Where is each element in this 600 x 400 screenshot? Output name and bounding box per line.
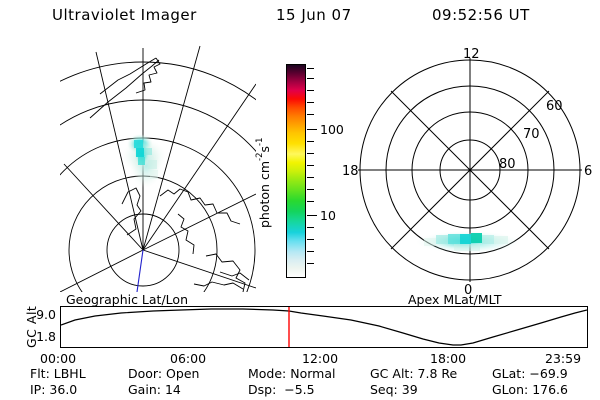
mlt-label-6: 6 [584, 164, 592, 179]
altitude-tick-high: 9.0 [22, 307, 56, 322]
status-door: Door: Open [128, 366, 199, 381]
status-block: Flt: LBHL Door: Open Mode: Normal GC Alt… [30, 366, 590, 398]
time-tick-0600: 06:00 [170, 351, 206, 366]
mlat-label-60: 60 [546, 99, 563, 114]
mlt-label-18: 18 [342, 164, 359, 179]
status-gc-alt: GC Alt: 7.8 Re [370, 366, 457, 381]
mlat-label-80: 80 [499, 157, 516, 172]
geographic-panel-caption: Geographic Lat/Lon [66, 292, 188, 307]
time-tick-1200: 12:00 [302, 351, 338, 366]
aurora-emission-patch [122, 134, 166, 188]
status-seq: Seq: 39 [370, 382, 418, 397]
orbit-altitude-svg [61, 307, 587, 347]
status-flt: Flt: LBHL [30, 366, 86, 381]
time-tick-0000: 00:00 [40, 351, 76, 366]
status-glon: GLon: 176.6 [492, 382, 568, 397]
mlt-label-12: 12 [463, 47, 480, 62]
coastline-paths [90, 58, 251, 292]
time-tick-1800: 18:00 [430, 351, 466, 366]
apex-dial-panel[interactable]: 12 6 0 18 60 70 80 [336, 44, 600, 296]
aurora-emission-arc [416, 231, 520, 253]
apex-panel-caption: Apex MLat/MLT [408, 292, 502, 307]
colorbar-axis-label: photon cm-2s-1 [251, 108, 269, 258]
instrument-title: Ultraviolet Imager [52, 6, 197, 24]
status-ip: IP: 36.0 [30, 382, 77, 397]
colorbar-label-mid: s [257, 146, 272, 153]
colorbar-label-text: photon cm [257, 161, 272, 228]
colorbar-tick-label-10: 10 [320, 208, 336, 223]
colorbar-label-exp2: -1 [255, 138, 265, 146]
time-tick-2359: 23:59 [545, 351, 581, 366]
colorbar-tick-100 [307, 129, 317, 130]
altitude-tick-low: 1.8 [22, 329, 56, 344]
colorbar-gradient[interactable] [286, 64, 306, 278]
observation-time: 09:52:56 UT [432, 6, 530, 24]
altitude-trace [61, 309, 587, 345]
observation-date: 15 Jun 07 [276, 6, 352, 24]
apex-dial-svg: 12 6 0 18 60 70 80 [336, 44, 600, 296]
status-glat: GLat: −69.9 [492, 366, 568, 381]
uv-imager-display: Ultraviolet Imager 15 Jun 07 09:52:56 UT [0, 0, 600, 400]
orbit-altitude-plot[interactable] [60, 306, 588, 348]
status-row: Flt: LBHL Door: Open Mode: Normal GC Alt… [30, 366, 590, 382]
header-bar: Ultraviolet Imager 15 Jun 07 09:52:56 UT [0, 6, 600, 30]
geographic-map-svg [60, 44, 256, 292]
colorbar-label-exp1: -2 [255, 153, 265, 161]
status-mode: Mode: Normal [248, 366, 336, 381]
status-dsp: Dsp: −5.5 [248, 382, 315, 397]
mlat-label-70: 70 [523, 127, 540, 142]
status-gain: Gain: 14 [128, 382, 181, 397]
status-row: IP: 36.0 Gain: 14 Dsp: −5.5 Seq: 39 GLon… [30, 382, 590, 398]
geographic-map-panel[interactable] [60, 44, 256, 292]
colorbar-tick-10 [307, 215, 317, 216]
